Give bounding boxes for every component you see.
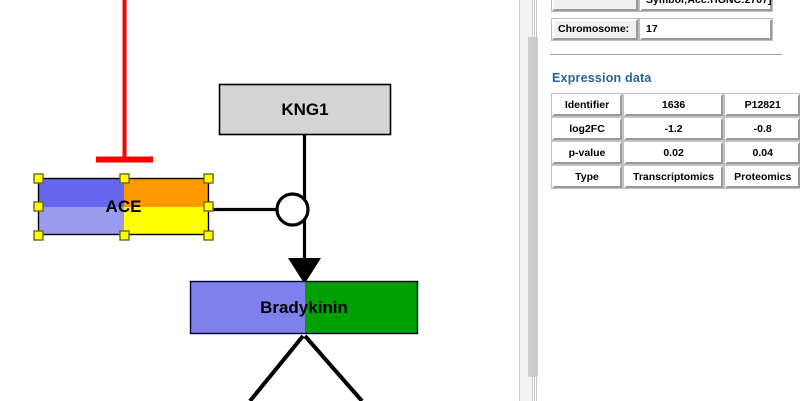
properties-table-clipped: Symbol;Acc:HGNC:2707] (550, 0, 774, 13)
catalysis-circle-icon[interactable] (277, 194, 308, 225)
selection-handle-w[interactable] (34, 202, 43, 211)
bradykinin-branch-edges[interactable] (250, 336, 362, 401)
properties-clipped-region: Symbol;Acc:HGNC:2707] (550, 0, 782, 17)
splitter-edge-line-1 (534, 0, 535, 401)
ace-quadrant-top-right (124, 178, 209, 207)
vertical-scrollbar-track[interactable] (519, 0, 533, 401)
table-row: Symbol;Acc:HGNC:2707] (552, 0, 772, 11)
node-bradykinin[interactable] (190, 281, 418, 334)
table-row: Type Transcriptomics Proteomics (552, 166, 800, 188)
table-row: Chromosome: 17 (552, 19, 772, 40)
expr-cell-log2fc-transcriptomics: -1.2 (624, 118, 723, 140)
expr-cell-pvalue-proteomics: 0.04 (725, 142, 800, 164)
node-kng1[interactable] (220, 85, 391, 135)
pathway-diagram (0, 0, 512, 401)
selection-handle-sw[interactable] (34, 231, 43, 240)
table-row: p-value 0.02 0.04 (552, 142, 800, 164)
selection-handle-s[interactable] (120, 231, 129, 240)
selection-handle-se[interactable] (204, 231, 213, 240)
expression-data-table: Identifier 1636 P12821 log2FC -1.2 -0.8 … (550, 92, 800, 190)
inhibition-edge[interactable] (96, 0, 153, 160)
pane-splitter[interactable] (512, 0, 538, 401)
expr-cell-log2fc-proteomics: -0.8 (725, 118, 800, 140)
ace-quadrant-bottom-right (124, 207, 209, 235)
property-key-chromosome: Chromosome: (552, 19, 638, 40)
node-ace[interactable] (38, 178, 209, 235)
expr-row-header-log2fc: log2FC (552, 118, 622, 140)
conversion-arrowhead (288, 258, 321, 284)
selection-handle-n[interactable] (120, 174, 129, 183)
bradykinin-half-left (190, 281, 305, 334)
property-value-chromosome: 17 (640, 19, 772, 40)
expr-cell-identifier-transcriptomics: 1636 (624, 94, 723, 116)
application-window: KNG1 ACE Bradykinin Symbol;Acc:HGNC:2707… (0, 0, 800, 401)
table-row: Identifier 1636 P12821 (552, 94, 800, 116)
property-value: Symbol;Acc:HGNC:2707] (640, 0, 772, 11)
ace-quadrant-bottom-left (38, 207, 124, 235)
bradykinin-half-right (305, 281, 418, 334)
pathway-canvas[interactable]: KNG1 ACE Bradykinin (0, 0, 512, 401)
backpage-panel[interactable]: Symbol;Acc:HGNC:2707] Chromosome: 17 Exp… (538, 0, 800, 401)
expr-row-header-pvalue: p-value (552, 142, 622, 164)
selection-handle-e[interactable] (204, 202, 213, 211)
selection-handle-nw[interactable] (34, 174, 43, 183)
expr-cell-type-proteomics: Proteomics (725, 166, 800, 188)
expression-data-heading: Expression data (552, 71, 782, 85)
expr-cell-type-transcriptomics: Transcriptomics (624, 166, 723, 188)
ace-catalysis-edge[interactable] (210, 194, 308, 225)
table-row: log2FC -1.2 -0.8 (552, 118, 800, 140)
expr-cell-identifier-proteomics: P12821 (725, 94, 800, 116)
bradykinin-branch-left[interactable] (250, 336, 303, 401)
ace-quadrant-top-left (38, 178, 124, 207)
bradykinin-branch-right[interactable] (305, 336, 362, 401)
property-key (552, 0, 638, 11)
section-divider (550, 54, 782, 55)
expr-cell-pvalue-transcriptomics: 0.02 (624, 142, 723, 164)
expr-row-header-identifier: Identifier (552, 94, 622, 116)
selection-handle-ne[interactable] (204, 174, 213, 183)
expr-row-header-type: Type (552, 166, 622, 188)
splitter-edge-line-2 (536, 0, 537, 401)
properties-table: Chromosome: 17 (550, 17, 774, 42)
